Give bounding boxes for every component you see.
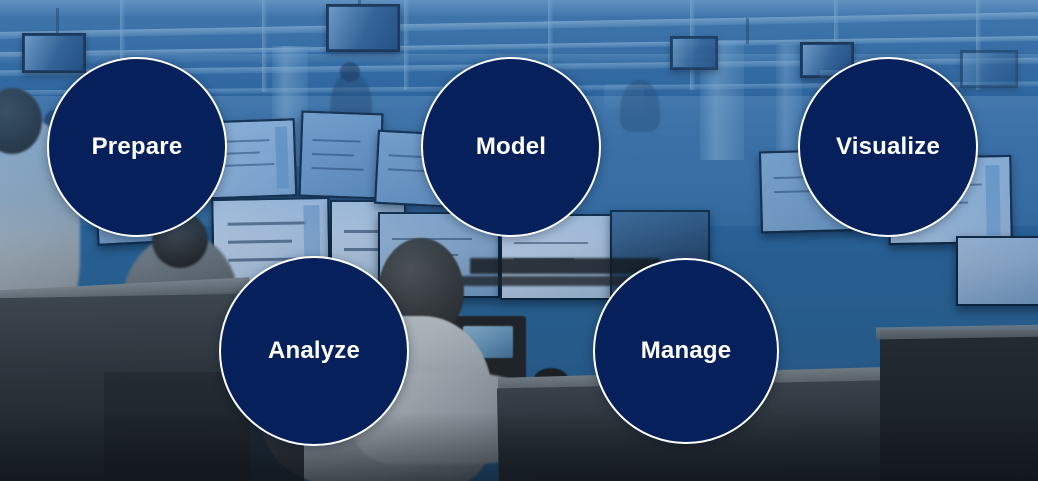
process-circle-model[interactable]: Model [421, 57, 601, 237]
process-circle-manage[interactable]: Manage [593, 258, 779, 444]
process-circle-label-visualize: Visualize [836, 135, 940, 159]
process-circle-label-model: Model [476, 135, 546, 159]
process-circle-label-analyze: Analyze [268, 339, 360, 363]
process-circle-prepare[interactable]: Prepare [47, 57, 227, 237]
slide-canvas: PrepareModelVisualizeAnalyzeManage [0, 0, 1038, 481]
process-circle-label-manage: Manage [641, 339, 732, 363]
process-circle-analyze[interactable]: Analyze [219, 256, 409, 446]
process-circle-label-prepare: Prepare [92, 135, 183, 159]
process-circle-visualize[interactable]: Visualize [798, 57, 978, 237]
